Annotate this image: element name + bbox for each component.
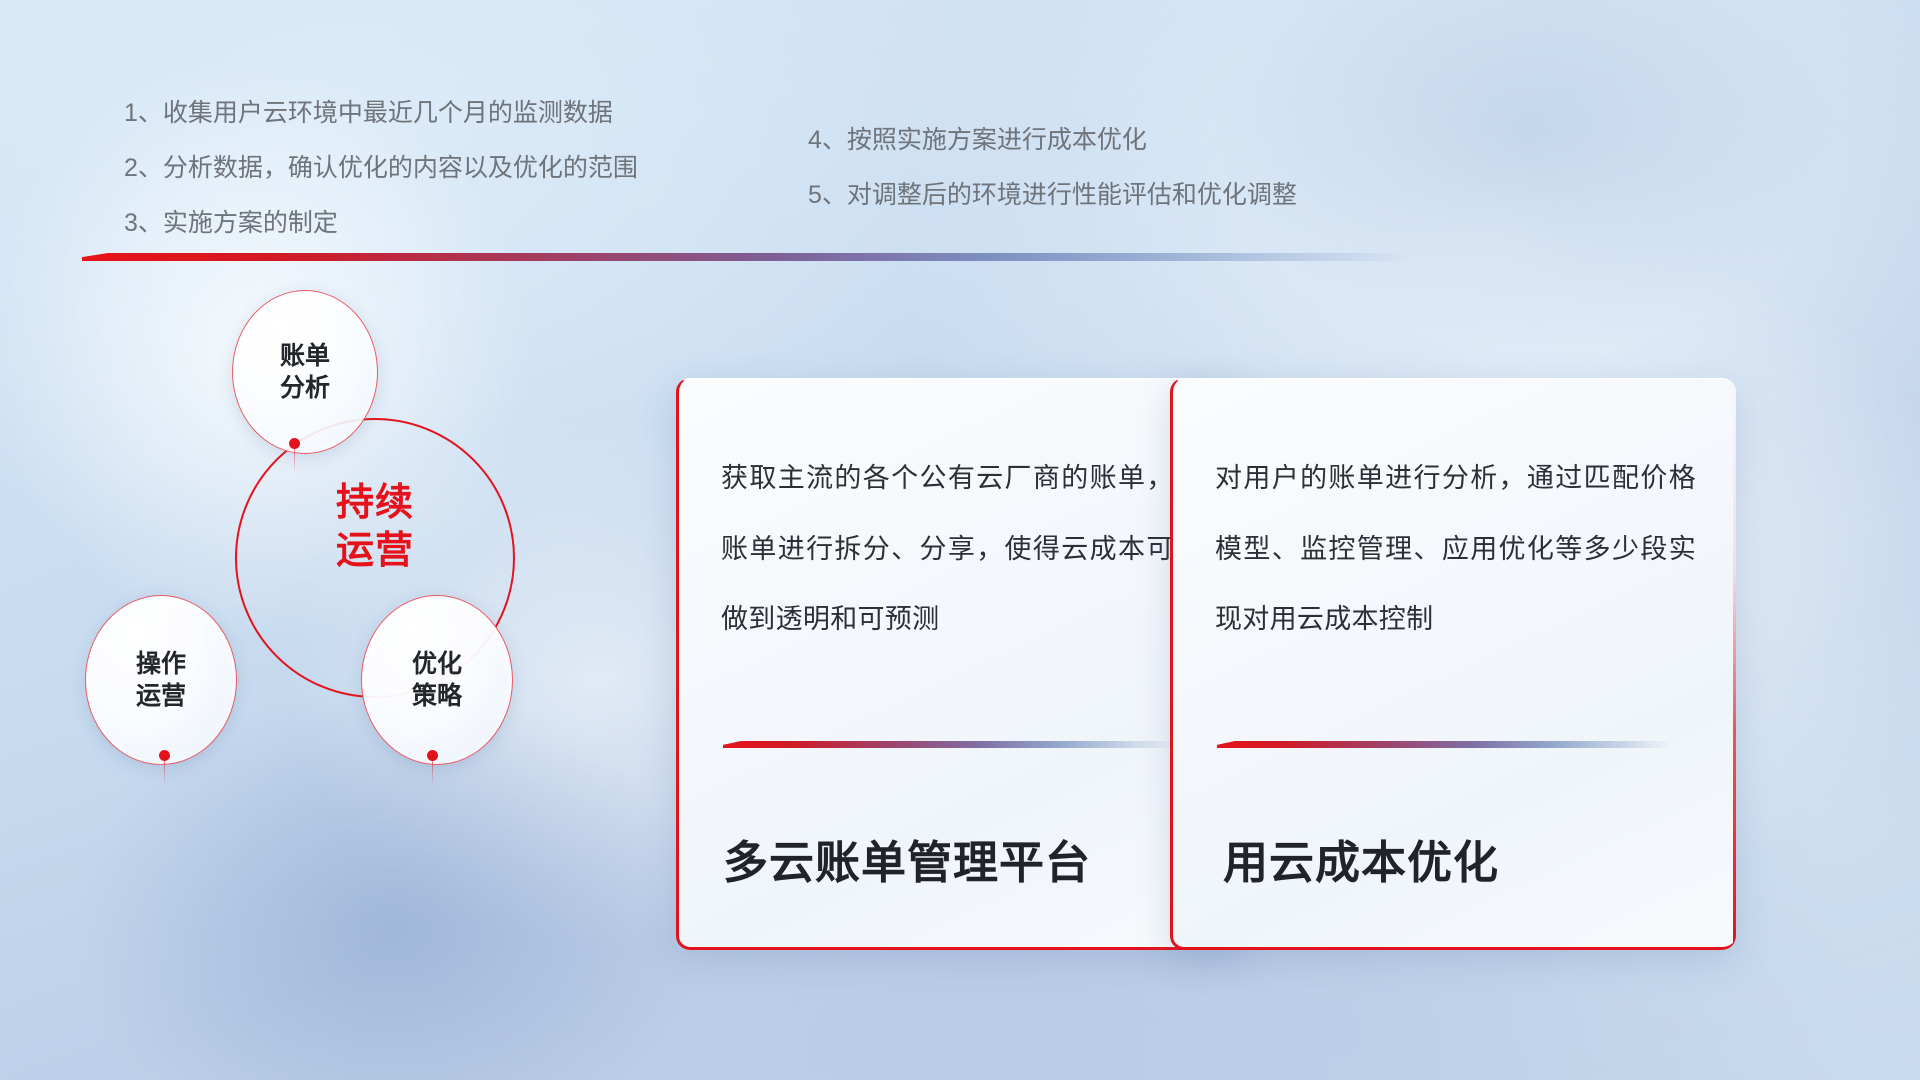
cycle-bubble-billing-analysis[interactable]: 账单 分析 xyxy=(232,290,378,454)
card-description: 对用户的账单进行分析，通过匹配价格模型、监控管理、应用优化等多少段实现对用云成本… xyxy=(1215,443,1696,655)
cycle-center-line1: 持续 xyxy=(235,480,515,528)
steps-list-right: 4、按照实施方案进行成本优化 5、对调整后的环境进行性能评估和优化调整 xyxy=(808,128,1297,238)
feature-card-multicloud-billing[interactable]: 获取主流的各个公有云厂商的账单，对账单进行拆分、分享，使得云成本可以做到透明和可… xyxy=(676,378,1242,950)
cycle-diagram: 账单 分析 操作 运营 优化 策略 持续 运营 xyxy=(85,290,555,770)
cycle-bubble-optimization-strategy[interactable]: 优化 策略 xyxy=(361,595,513,765)
cycle-bubble-operations[interactable]: 操作 运营 xyxy=(85,595,237,765)
cycle-center-label: 持续 运营 xyxy=(235,480,515,575)
card-description: 获取主流的各个公有云厂商的账单，对账单进行拆分、分享，使得云成本可以做到透明和可… xyxy=(721,443,1202,655)
step-item: 1、收集用户云环境中最近几个月的监测数据 xyxy=(124,101,638,126)
step-item: 2、分析数据，确认优化的内容以及优化的范围 xyxy=(124,156,638,181)
cycle-node-dot-left xyxy=(159,750,170,761)
bubble-label-line1: 操作 xyxy=(136,648,186,681)
feature-card-cloud-cost-optimization[interactable]: 对用户的账单进行分析，通过匹配价格模型、监控管理、应用优化等多少段实现对用云成本… xyxy=(1170,378,1736,950)
step-item: 4、按照实施方案进行成本优化 xyxy=(808,128,1297,153)
bubble-label-line1: 优化 xyxy=(412,648,462,681)
steps-list-left: 1、收集用户云环境中最近几个月的监测数据 2、分析数据，确认优化的内容以及优化的… xyxy=(124,101,638,266)
cycle-node-dot-right xyxy=(427,750,438,761)
bubble-label-line1: 账单 xyxy=(280,340,330,373)
step-item: 5、对调整后的环境进行性能评估和优化调整 xyxy=(808,183,1297,208)
card-title: 多云账单管理平台 xyxy=(723,826,1212,891)
section-divider xyxy=(82,253,1412,261)
bubble-label-line2: 运营 xyxy=(136,680,186,713)
step-item: 3、实施方案的制定 xyxy=(124,211,638,236)
cycle-node-dot-top xyxy=(289,438,300,449)
card-accent-rule xyxy=(1217,741,1673,748)
bubble-label-line2: 策略 xyxy=(412,680,462,713)
bubble-label-line2: 分析 xyxy=(280,372,330,405)
card-title: 用云成本优化 xyxy=(1223,826,1706,891)
card-accent-rule xyxy=(723,741,1179,748)
cycle-center-line2: 运营 xyxy=(235,528,515,576)
